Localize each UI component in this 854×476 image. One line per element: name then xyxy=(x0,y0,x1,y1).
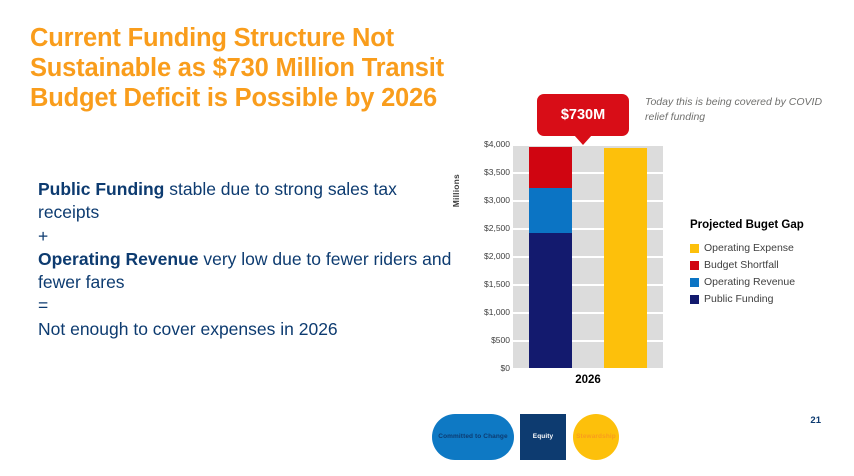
legend-item-label: Budget Shortfall xyxy=(704,259,779,271)
y-axis-tick-labels: $0$500$1,000$1,500$2,000$2,500$3,000$3,5… xyxy=(465,144,510,368)
chart-legend: Projected Buget Gap Operating ExpenseBud… xyxy=(690,219,850,310)
y-axis-tick-label: $2,500 xyxy=(465,223,510,233)
legend-item[interactable]: Operating Revenue xyxy=(690,276,850,288)
legend-swatch-icon xyxy=(690,278,699,287)
legend-title: Projected Buget Gap xyxy=(690,219,850,231)
y-axis-tick-label: $2,000 xyxy=(465,251,510,261)
y-axis-tick-label: $1,000 xyxy=(465,307,510,317)
badge-committed-to-change: Committed to Change xyxy=(432,414,514,460)
y-axis-tick-label: $1,500 xyxy=(465,279,510,289)
y-axis-tick-label: $4,000 xyxy=(465,139,510,149)
page-number: 21 xyxy=(810,415,821,426)
legend-item-label: Operating Revenue xyxy=(704,276,795,288)
body-line-1-bold: Public Funding xyxy=(38,179,164,199)
shortfall-callout: $730M xyxy=(537,94,629,136)
badge-committed-to-change-label: Committed to Change xyxy=(438,433,507,440)
y-axis-title: Millions xyxy=(451,174,465,207)
chart-bar[interactable] xyxy=(529,147,573,368)
legend-item-list: Operating ExpenseBudget ShortfallOperati… xyxy=(690,242,850,305)
body-operator-equals: = xyxy=(38,294,458,317)
body-line-2-bold: Operating Revenue xyxy=(38,249,198,269)
bar-slot xyxy=(588,144,663,368)
legend-item-label: Public Funding xyxy=(704,293,773,305)
slide-canvas: Current Funding Structure Not Sustainabl… xyxy=(0,0,854,476)
legend-swatch-icon xyxy=(690,244,699,253)
legend-swatch-icon xyxy=(690,261,699,270)
body-operator-plus: + xyxy=(38,225,458,248)
bar-slot xyxy=(513,144,588,368)
body-line-3: Not enough to cover expenses in 2026 xyxy=(38,318,458,341)
legend-item[interactable]: Budget Shortfall xyxy=(690,259,850,271)
y-axis-tick-label: $3,500 xyxy=(465,167,510,177)
legend-item-label: Operating Expense xyxy=(704,242,794,254)
slide-title: Current Funding Structure Not Sustainabl… xyxy=(30,24,485,113)
x-axis-category-label: 2026 xyxy=(513,374,663,386)
legend-swatch-icon xyxy=(690,295,699,304)
badge-stewardship-label: Stewardship xyxy=(576,433,616,440)
badge-equity-label: Equity xyxy=(533,433,553,440)
bar-segment-operating-expense[interactable] xyxy=(604,148,648,368)
body-line-2: Operating Revenue very low due to fewer … xyxy=(38,248,458,295)
badge-equity: Equity xyxy=(520,414,566,460)
y-axis-tick-label: $500 xyxy=(465,335,510,345)
legend-item[interactable]: Public Funding xyxy=(690,293,850,305)
body-line-1: Public Funding stable due to strong sale… xyxy=(38,178,458,225)
legend-item[interactable]: Operating Expense xyxy=(690,242,850,254)
plot-area xyxy=(513,144,663,368)
y-axis-tick-label: $0 xyxy=(465,363,510,373)
y-axis-tick-label: $3,000 xyxy=(465,195,510,205)
bar-segment-public-funding[interactable] xyxy=(529,233,573,368)
chart-bar[interactable] xyxy=(604,148,648,368)
bar-segment-operating-revenue[interactable] xyxy=(529,188,573,233)
badge-stewardship: Stewardship xyxy=(573,414,619,460)
shortfall-callout-label: $730M xyxy=(561,107,605,123)
bar-segment-budget-shortfall[interactable] xyxy=(529,147,573,188)
body-copy: Public Funding stable due to strong sale… xyxy=(38,178,458,341)
